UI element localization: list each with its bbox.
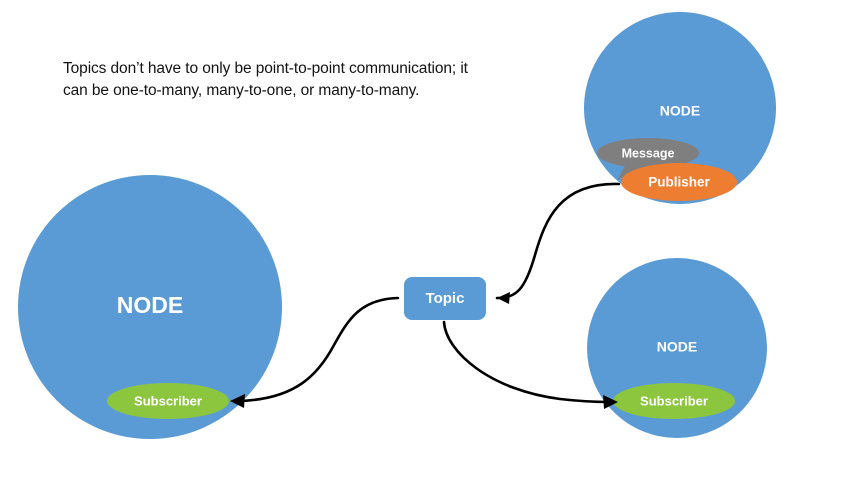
publisher-top-right[interactable]: Publisher bbox=[621, 163, 737, 201]
diagram-svg: NODE Subscriber NODE Message Publisher N… bbox=[0, 0, 854, 480]
message-callout-label: Message bbox=[622, 146, 675, 160]
topic-box[interactable]: Topic bbox=[404, 277, 486, 320]
node-top-right-label: NODE bbox=[660, 103, 700, 119]
subscriber-bottom-right[interactable]: Subscriber bbox=[613, 383, 735, 419]
publisher-label: Publisher bbox=[648, 175, 710, 190]
topic-box-label: Topic bbox=[426, 290, 465, 307]
subscriber-bottom-right-label: Subscriber bbox=[640, 393, 708, 408]
connector-publisher-to-topic bbox=[497, 184, 619, 304]
connector-topic-to-subscriber-bottom-right-line bbox=[444, 322, 610, 402]
node-bottom-right-label: NODE bbox=[657, 339, 697, 355]
slide-canvas: Topics don’t have to only be point-to-po… bbox=[0, 0, 854, 480]
subscriber-left-label: Subscriber bbox=[134, 393, 202, 408]
subscriber-left[interactable]: Subscriber bbox=[107, 383, 229, 419]
connector-publisher-to-topic-line bbox=[497, 184, 619, 298]
node-left-label: NODE bbox=[117, 292, 183, 318]
connector-publisher-to-topic-arrowhead bbox=[497, 292, 510, 304]
